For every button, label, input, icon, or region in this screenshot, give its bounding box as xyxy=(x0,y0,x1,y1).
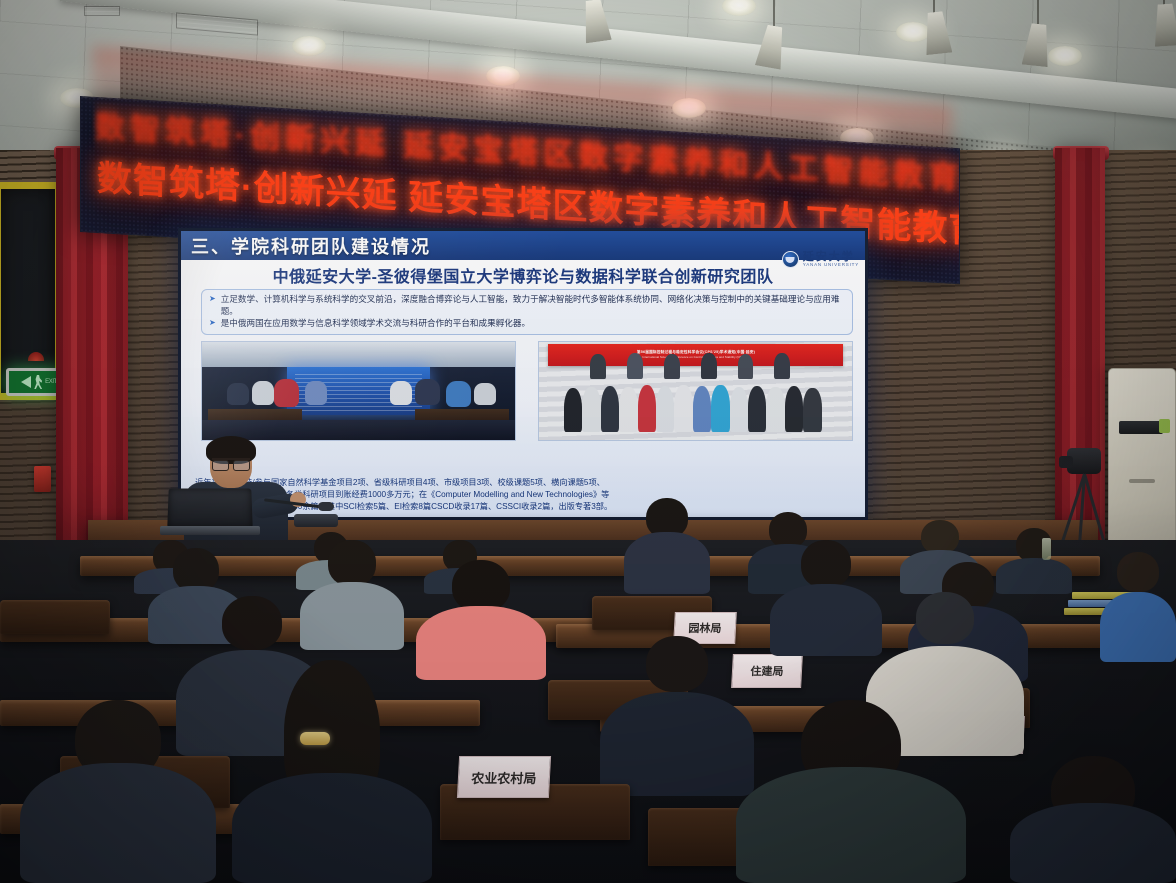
bullet-item: ➤ 是中俄两国在应用数学与信息科学领域学术交流与科研合作的平台和成果孵化器。 xyxy=(209,318,845,330)
exit-running-figure-icon xyxy=(34,375,42,389)
photo-person xyxy=(785,386,803,432)
attendee-head xyxy=(916,592,974,644)
microphone xyxy=(264,498,336,528)
laptop-lid xyxy=(167,488,252,528)
slide-title-bar: 三、学院科研团队建设情况 xyxy=(181,231,865,260)
photo-person xyxy=(590,354,606,378)
photo-person xyxy=(252,381,274,405)
attendee-head xyxy=(921,520,959,554)
attendee-shoulders xyxy=(20,763,216,883)
attendee xyxy=(1010,756,1176,883)
downlight xyxy=(292,36,326,56)
name-card-label: 农业农村局 xyxy=(471,768,537,787)
fire-alarm-box xyxy=(34,466,51,492)
photo-person xyxy=(656,386,674,432)
photo-person xyxy=(774,353,790,379)
attendee-shoulders xyxy=(1100,592,1176,662)
microphone-neck xyxy=(264,498,324,508)
slide-title: 三、学院科研团队建设情况 xyxy=(191,233,431,259)
water-bottle xyxy=(1042,538,1051,560)
laptop-base xyxy=(160,526,260,535)
attendee-head xyxy=(452,560,510,612)
downlight xyxy=(672,98,706,118)
spotlight-rod xyxy=(773,0,775,30)
conference-room-photo xyxy=(201,341,516,441)
photo-ceiling xyxy=(202,342,515,367)
photo-person xyxy=(474,383,496,405)
photo-person xyxy=(564,388,582,432)
left-arrow-icon xyxy=(21,376,31,388)
attendee xyxy=(232,660,432,883)
name-card-label: 园林局 xyxy=(688,620,722,636)
attendee xyxy=(600,636,754,796)
chair xyxy=(0,600,110,634)
photo-person xyxy=(730,387,748,432)
slide-photos: 第56届国际控制过程与稳定性科学会议(CPS'25)学术通知(中国·延安) In… xyxy=(201,341,853,441)
group-photo: 第56届国际控制过程与稳定性科学会议(CPS'25)学术通知(中国·延安) In… xyxy=(538,341,853,441)
photo-person xyxy=(446,381,471,406)
photo-person xyxy=(701,353,717,379)
photo-person xyxy=(738,354,754,378)
attendee-shoulders xyxy=(416,606,546,680)
attendee-head xyxy=(328,540,376,586)
bullet-marker-icon: ➤ xyxy=(209,318,216,329)
attendee xyxy=(20,700,216,883)
spotlight-rod xyxy=(1037,0,1039,28)
laptop xyxy=(160,488,256,536)
conference-banner-cn: 第56届国际控制过程与稳定性科学会议(CPS'25)学术通知(中国·延安) xyxy=(636,350,754,355)
bullet-item: ➤ 立足数学、计算机科学与系统科学的交叉前沿，深度融合博弈论与人工智能，致力于解… xyxy=(209,294,845,317)
photo-person xyxy=(748,386,766,432)
photo-crowd xyxy=(564,371,827,432)
ceiling-vent-left xyxy=(84,6,120,16)
downlight xyxy=(1048,46,1082,66)
attendee-head xyxy=(222,596,282,650)
photo-person xyxy=(627,353,643,379)
camera-lens-icon xyxy=(1059,456,1073,468)
attendee-shoulders xyxy=(736,767,966,883)
conference-hall-photo: EXIT 数智筑塔·创新兴延 延安宝塔区数字素养和人工智能教育培训会 数智筑塔·… xyxy=(0,0,1176,883)
downlight xyxy=(896,22,930,42)
photo-floor xyxy=(202,420,515,440)
hair-clip xyxy=(300,732,330,745)
photo-person xyxy=(227,383,249,405)
floor-standing-air-conditioner xyxy=(1108,368,1176,558)
attendee-head xyxy=(646,636,708,692)
photo-person xyxy=(601,386,619,432)
ac-handle xyxy=(1129,479,1155,483)
ac-energy-badge xyxy=(1159,419,1170,433)
photo-person xyxy=(274,379,299,406)
photo-person xyxy=(582,387,600,432)
name-card-label: 住建局 xyxy=(750,663,784,679)
slide-bullet-box: ➤ 立足数学、计算机科学与系统科学的交叉前沿，深度融合博弈论与人工智能，致力于解… xyxy=(201,289,853,335)
photo-person xyxy=(415,379,440,404)
photo-person xyxy=(390,381,412,405)
attendee-shoulders xyxy=(600,692,754,796)
photo-person xyxy=(674,385,692,432)
attendee xyxy=(624,498,710,594)
name-card: 农业农村局 xyxy=(457,756,551,798)
photo-person xyxy=(803,388,821,432)
attendee xyxy=(416,560,546,680)
bullet-text: 是中俄两国在应用数学与信息科学领域学术交流与科研合作的平台和成果孵化器。 xyxy=(221,318,530,330)
eyeglasses-icon xyxy=(212,458,250,467)
alarm-dome-icon xyxy=(28,352,44,361)
photo-person xyxy=(305,381,327,405)
photo-person xyxy=(766,387,784,432)
conference-banner-en: International Scientific Conference on C… xyxy=(642,355,748,359)
bullet-marker-icon: ➤ xyxy=(209,294,216,305)
attendee-head xyxy=(1117,552,1159,592)
attendee-shoulders xyxy=(1010,803,1176,883)
attendee-shoulders xyxy=(624,532,710,594)
microphone-head xyxy=(318,502,334,511)
photo-person xyxy=(638,385,656,432)
microphone-base xyxy=(294,514,338,527)
attendee-shoulders xyxy=(232,773,432,883)
photo-person xyxy=(664,354,680,378)
photo-person xyxy=(711,385,729,432)
photo-person xyxy=(619,387,637,432)
attendee-head xyxy=(801,540,851,588)
slide-subtitle: 中俄延安大学-圣彼得堡国立大学博弈论与数据科学联合创新研究团队 xyxy=(181,263,865,287)
photo-person xyxy=(693,386,711,432)
ac-display-panel xyxy=(1119,421,1163,434)
downlight xyxy=(486,66,520,86)
attendee xyxy=(1100,552,1176,662)
attendee xyxy=(736,700,966,883)
bullet-text: 立足数学、计算机科学与系统科学的交叉前沿，深度融合博弈论与人工智能，致力于解决智… xyxy=(221,294,845,317)
